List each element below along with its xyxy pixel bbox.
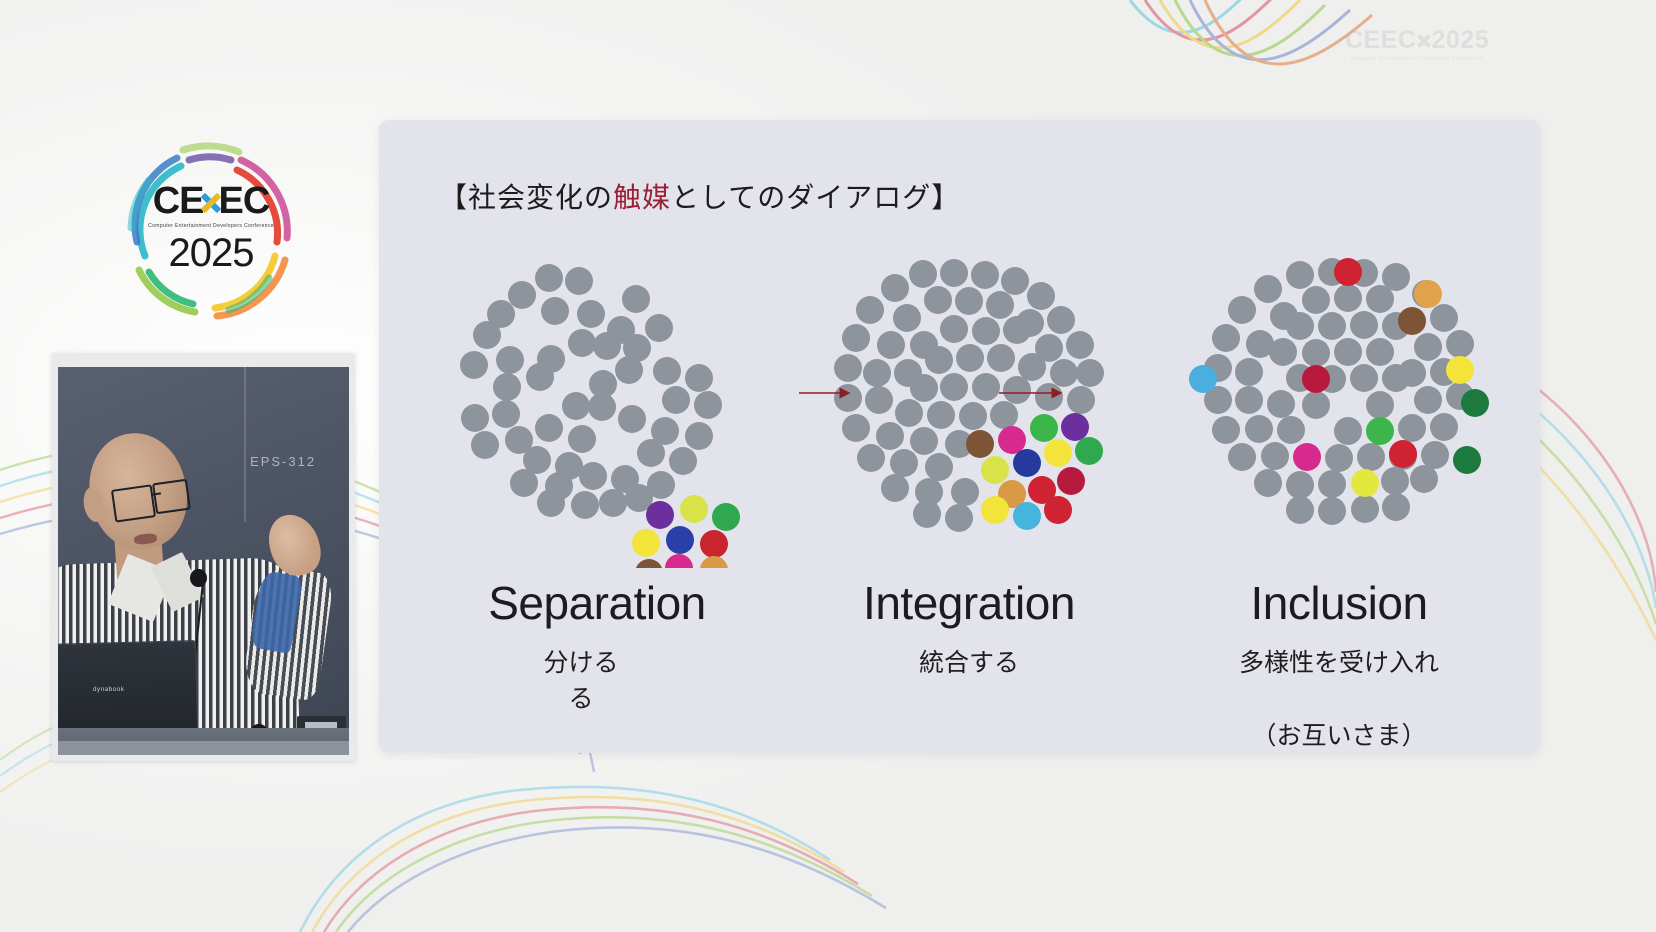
- cedec-logo: CEEC Computer Entertainment Developers C…: [119, 138, 303, 320]
- glasses-left-lens: [111, 485, 156, 523]
- laptop-brand-label: dynabook: [93, 686, 124, 693]
- column-title-separation: Separation: [427, 576, 767, 630]
- integration-diagram: [799, 248, 1139, 568]
- column-title-integration: Integration: [799, 576, 1139, 630]
- slide-title-highlight: 触媒: [613, 183, 671, 214]
- glasses-right-lens: [152, 479, 191, 515]
- column-caption-separation: 分けるる: [461, 646, 701, 719]
- inclusion-diagram: [1169, 248, 1509, 568]
- column-caption-integration: 統合する: [799, 646, 1139, 682]
- column-separation: Separation 分けるる: [427, 248, 767, 568]
- column-caption-inclusion-extra: （お互いさま）: [1169, 716, 1509, 752]
- video-frame: EPS-312 dynabook: [58, 367, 349, 755]
- colored-dot-cluster: [966, 413, 1103, 530]
- column-inclusion: Inclusion 多様性を受け入れ （お互いさま）: [1169, 248, 1509, 568]
- desk-front-edge: [58, 741, 349, 755]
- slide-title-prefix: 【社会変化の: [439, 183, 613, 214]
- gray-dot-cluster: [460, 264, 722, 519]
- column-caption-inclusion: 多様性を受け入れ: [1169, 646, 1509, 682]
- laptop: [58, 641, 199, 738]
- slide-title-suffix: としてのダイアログ】: [671, 183, 960, 214]
- speaker-video[interactable]: EPS-312 dynabook: [52, 353, 355, 761]
- column-title-inclusion: Inclusion: [1169, 576, 1509, 630]
- presentation-slide: 【社会変化の触媒としてのダイアログ】: [379, 120, 1540, 753]
- video-wall-label: EPS-312: [250, 454, 316, 469]
- slide-title: 【社会変化の触媒としてのダイアログ】: [439, 176, 960, 216]
- screen-stage: CEEC 2025 Computer Entertainment Develop…: [0, 0, 1656, 932]
- video-wall-seam: [244, 367, 246, 522]
- separation-diagram: [427, 248, 767, 568]
- microphone-head: [190, 569, 206, 587]
- column-integration: Integration 統合する: [799, 248, 1139, 568]
